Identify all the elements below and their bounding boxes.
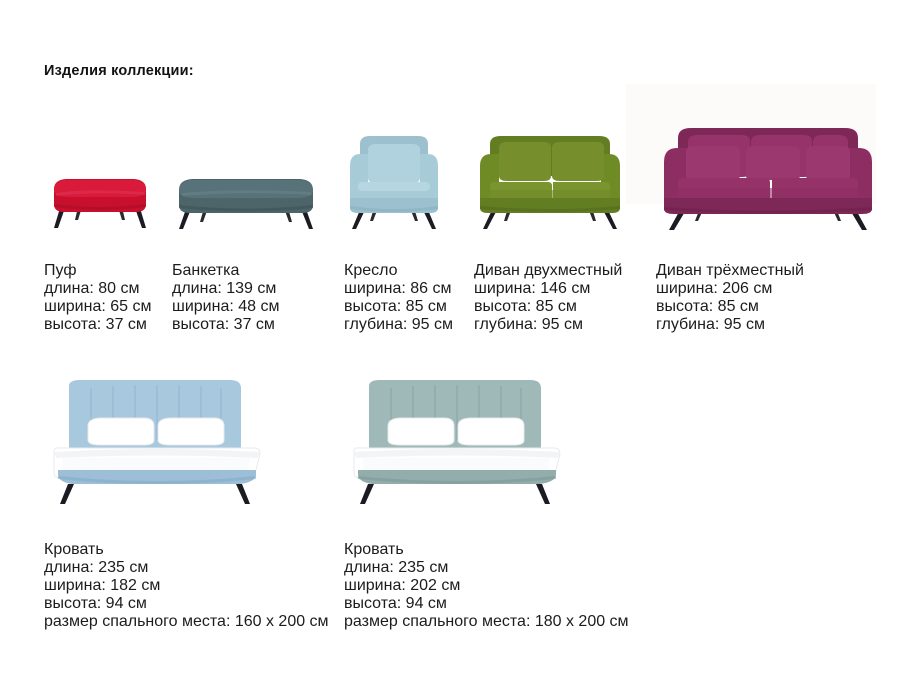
product-name: Банкетка: [172, 262, 279, 280]
product-label-bench: Банкетка длина: 139 см ширина: 48 см выс…: [172, 262, 279, 334]
sofa3-pillow-center: [746, 146, 800, 180]
bed2-pillow-left: [388, 418, 454, 445]
product-image-pouf: [44, 160, 156, 235]
sofa2-back-cushion-left: [499, 142, 551, 181]
bed2-pillow-right: [458, 418, 524, 445]
spec-line: глубина: 95 см: [344, 316, 453, 334]
product-specs: длина: 139 см ширина: 48 см высота: 37 с…: [172, 280, 279, 334]
product-image-sofa-three-seat: [656, 118, 880, 236]
spec-line: высота: 94 см: [344, 595, 629, 613]
product-image-bed-160: [44, 378, 272, 508]
product-image-bench: [172, 160, 320, 235]
sofa-three-seat-illustration: [656, 118, 880, 236]
product-label-sofa-two-seat: Диван двухместный ширина: 146 см высота:…: [474, 262, 622, 334]
bed2-legs: [360, 484, 550, 504]
product-image-sofa-two-seat: [474, 128, 626, 236]
spec-line: глубина: 95 см: [474, 316, 622, 334]
sofa3-pillow-left: [686, 146, 740, 180]
product-name: Кровать: [44, 541, 329, 559]
spec-line: длина: 80 см: [44, 280, 151, 298]
spec-line: ширина: 65 см: [44, 298, 151, 316]
spec-line: высота: 85 см: [344, 298, 453, 316]
spec-line: длина: 235 см: [44, 559, 329, 577]
spec-line: ширина: 146 см: [474, 280, 622, 298]
sofa3-pillow-right: [806, 146, 850, 180]
armchair-back-cushion: [368, 144, 420, 183]
product-specs: ширина: 86 см высота: 85 см глубина: 95 …: [344, 280, 453, 334]
spec-line: ширина: 48 см: [172, 298, 279, 316]
bench-cushion: [179, 180, 313, 198]
product-specs: длина: 235 см ширина: 182 см высота: 94 …: [44, 559, 329, 631]
spec-line: высота: 85 см: [656, 298, 804, 316]
product-label-sofa-three-seat: Диван трёхместный ширина: 206 см высота:…: [656, 262, 804, 334]
product-label-bed-180: Кровать длина: 235 см ширина: 202 см выс…: [344, 541, 629, 631]
product-specs: длина: 235 см ширина: 202 см высота: 94 …: [344, 559, 629, 631]
sofa-two-seat-illustration: [474, 128, 626, 236]
spec-line: глубина: 95 см: [656, 316, 804, 334]
spec-line: высота: 85 см: [474, 298, 622, 316]
spec-line: длина: 235 см: [344, 559, 629, 577]
sofa2-back-cushion-right: [552, 142, 604, 181]
product-name: Пуф: [44, 262, 151, 280]
product-image-armchair: [344, 128, 444, 236]
armchair-illustration: [344, 128, 444, 236]
spec-line: высота: 37 см: [172, 316, 279, 334]
collection-products-page: Изделия коллекции:: [0, 0, 900, 675]
bench-illustration: [172, 160, 320, 235]
spec-line: ширина: 182 см: [44, 577, 329, 595]
spec-line: ширина: 206 см: [656, 280, 804, 298]
spec-line: длина: 139 см: [172, 280, 279, 298]
product-name: Диван двухместный: [474, 262, 622, 280]
spec-line: размер спального места: 180 x 200 см: [344, 613, 629, 631]
bed1-pillow-right: [158, 418, 224, 445]
page-title: Изделия коллекции:: [44, 63, 194, 79]
product-name: Кресло: [344, 262, 453, 280]
spec-line: размер спального места: 160 x 200 см: [44, 613, 329, 631]
spec-line: высота: 37 см: [44, 316, 151, 334]
bed-180-illustration: [344, 378, 572, 508]
pouf-illustration: [44, 160, 156, 235]
spec-line: ширина: 86 см: [344, 280, 453, 298]
bed-160-illustration: [44, 378, 272, 508]
product-name: Диван трёхместный: [656, 262, 804, 280]
product-image-bed-180: [344, 378, 572, 508]
bed1-pillow-left: [88, 418, 154, 445]
product-specs: ширина: 146 см высота: 85 см глубина: 95…: [474, 280, 622, 334]
product-label-pouf: Пуф длина: 80 см ширина: 65 см высота: 3…: [44, 262, 151, 334]
spec-line: высота: 94 см: [44, 595, 329, 613]
product-specs: длина: 80 см ширина: 65 см высота: 37 см: [44, 280, 151, 334]
product-label-armchair: Кресло ширина: 86 см высота: 85 см глуби…: [344, 262, 453, 334]
bed1-legs: [60, 484, 250, 504]
spec-line: ширина: 202 см: [344, 577, 629, 595]
product-name: Кровать: [344, 541, 629, 559]
product-label-bed-160: Кровать длина: 235 см ширина: 182 см выс…: [44, 541, 329, 631]
product-specs: ширина: 206 см высота: 85 см глубина: 95…: [656, 280, 804, 334]
